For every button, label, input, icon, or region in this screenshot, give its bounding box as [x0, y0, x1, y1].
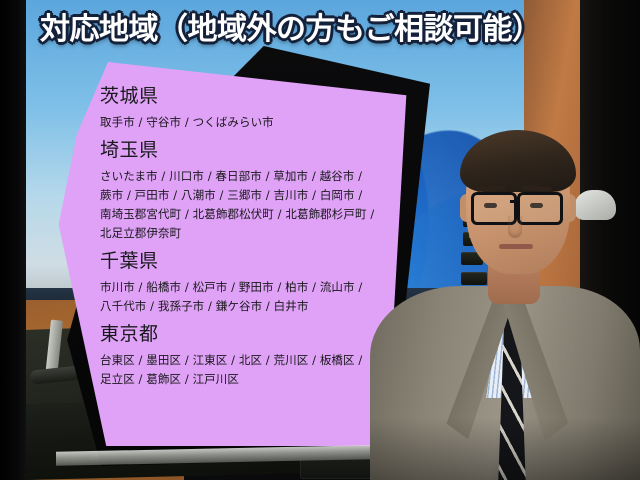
region-heading: 埼玉県	[100, 138, 388, 162]
eyeglasses-lens-right	[517, 192, 563, 225]
region-heading: 東京都	[100, 322, 388, 346]
region-city-list: さいたま市 / 川口市 / 春日部市 / 草加市 / 越谷市 / 蕨市 / 戸田…	[100, 167, 388, 243]
region-block-saitama: 埼玉県 さいたま市 / 川口市 / 春日部市 / 草加市 / 越谷市 / 蕨市 …	[100, 138, 388, 243]
region-block-tokyo: 東京都 台東区 / 墨田区 / 江東区 / 北区 / 荒川区 / 板橋区 / 足…	[100, 322, 388, 389]
nose	[508, 216, 522, 238]
screenshot-root: CTRL 茨城県 取手市 / 守谷市 / つくばみらい市 埼玉県 さいたま市 /…	[0, 0, 640, 480]
frame-left-black-bar	[0, 0, 26, 480]
mouth	[499, 244, 533, 249]
eyeglasses-bridge	[510, 200, 519, 203]
region-city-list: 取手市 / 守谷市 / つくばみらい市	[100, 113, 388, 132]
region-city-list: 台東区 / 墨田区 / 江東区 / 北区 / 荒川区 / 板橋区 / 足立区 /…	[100, 351, 388, 389]
page-title: 対応地域（地域外の方もご相談可能）	[40, 4, 542, 48]
portrait-bottom-shadow	[370, 418, 640, 480]
region-block-ibaraki: 茨城県 取手市 / 守谷市 / つくばみらい市	[100, 84, 388, 132]
region-list: 茨城県 取手市 / 守谷市 / つくばみらい市 埼玉県 さいたま市 / 川口市 …	[100, 84, 388, 395]
region-heading: 茨城県	[100, 84, 388, 108]
hair	[460, 130, 576, 192]
person-portrait	[370, 118, 640, 480]
region-block-chiba: 千葉県 市川市 / 船橋市 / 松戸市 / 野田市 / 柏市 / 流山市 / 八…	[100, 249, 388, 316]
region-heading: 千葉県	[100, 249, 388, 273]
region-city-list: 市川市 / 船橋市 / 松戸市 / 野田市 / 柏市 / 流山市 / 八千代市 …	[100, 278, 388, 316]
